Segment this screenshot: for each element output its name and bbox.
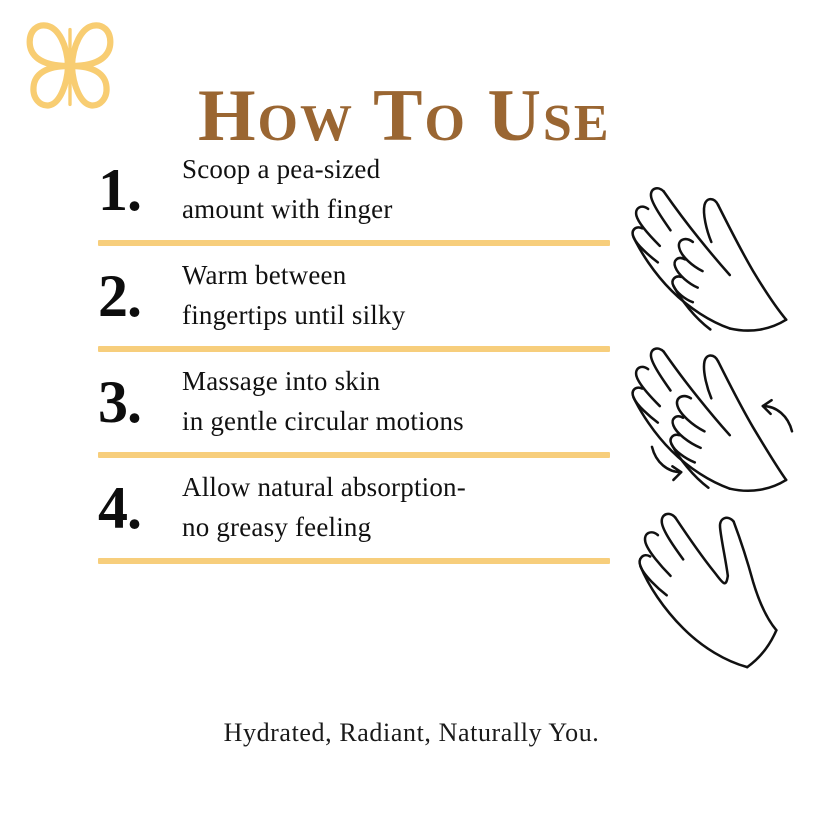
single-open-hand-icon [624, 506, 820, 671]
step-text: Scoop a pea-sized amount with finger [182, 150, 630, 230]
step-row: 3. Massage into skin in gentle circular … [0, 352, 630, 452]
step-divider [98, 558, 610, 564]
step-row: 4. Allow natural absorption- no greasy f… [0, 458, 630, 558]
two-hands-rubbing-with-motion-arrows-icon [624, 338, 820, 513]
step-text: Warm between fingertips until silky [182, 256, 630, 336]
step-number: 4. [98, 478, 182, 538]
step-number: 2. [98, 266, 182, 326]
two-hands-applying-cream-icon [624, 170, 820, 345]
tagline: Hydrated, Radiant, Naturally You. [0, 718, 823, 748]
step-text: Allow natural absorption- no greasy feel… [182, 468, 630, 548]
step-text: Massage into skin in gentle circular mot… [182, 362, 630, 442]
poster-header: How To Use [0, 0, 823, 130]
step-row: 2. Warm between fingertips until silky [0, 246, 630, 346]
how-to-use-poster: How To Use 1. Scoop a pea-sized amount w… [0, 0, 823, 823]
step-number: 3. [98, 372, 182, 432]
step-number: 1. [98, 160, 182, 220]
illustration-column [624, 170, 820, 670]
steps-list: 1. Scoop a pea-sized amount with finger … [0, 140, 630, 564]
butterfly-icon [22, 18, 118, 114]
step-row: 1. Scoop a pea-sized amount with finger [0, 140, 630, 240]
